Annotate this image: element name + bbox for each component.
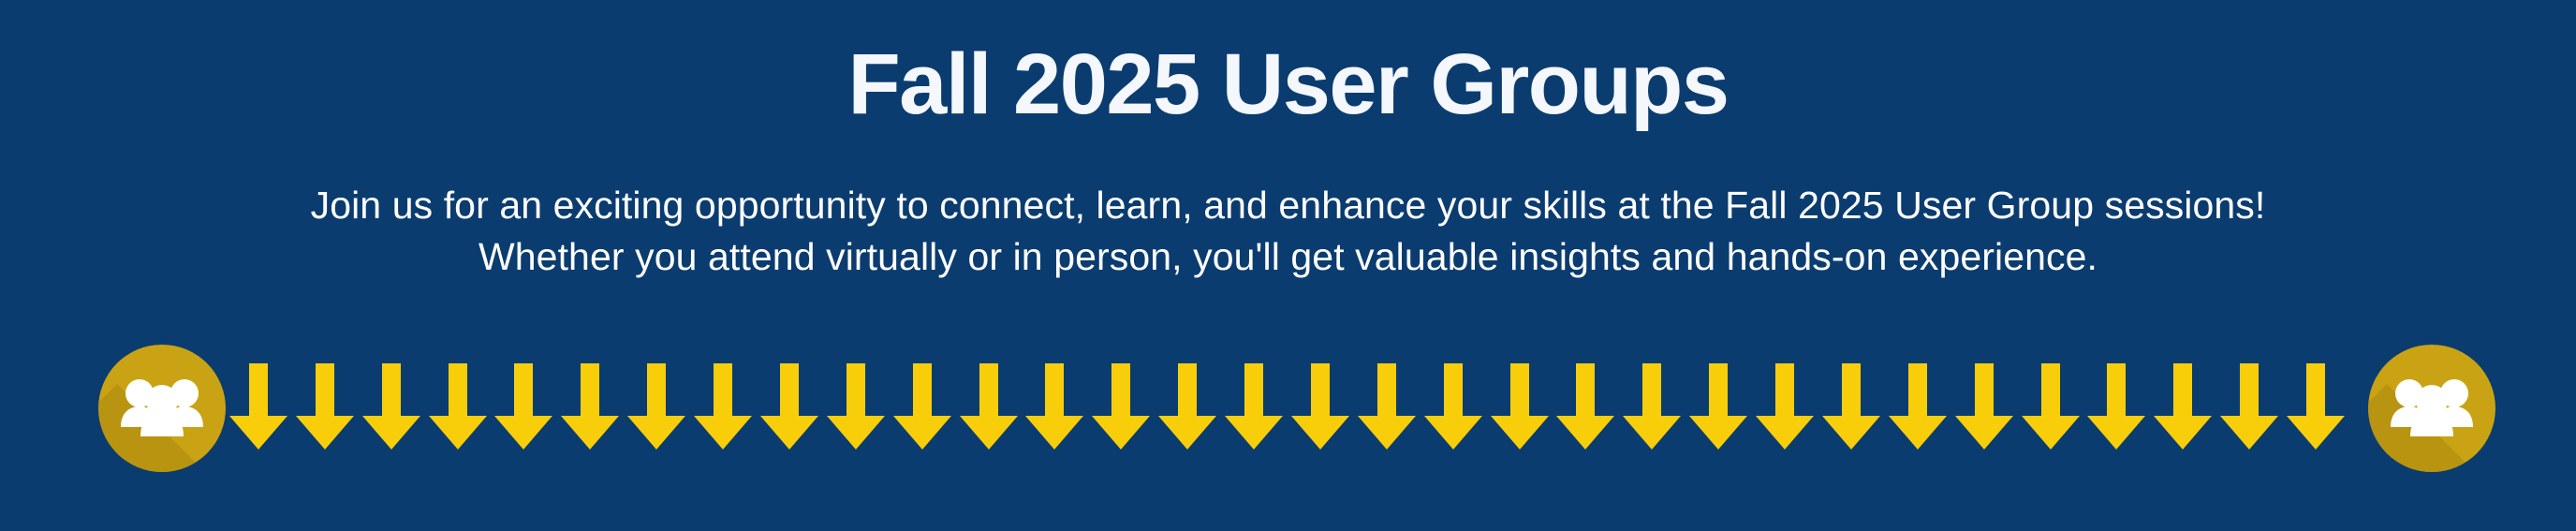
down-arrow-icon (1092, 363, 1150, 450)
people-group-badge-left (98, 345, 226, 472)
decorative-arrow-row (0, 345, 2576, 476)
page-title: Fall 2025 User Groups (0, 39, 2576, 130)
down-arrow-icon (1225, 363, 1283, 450)
down-arrow-icon (1556, 363, 1614, 450)
down-arrow-icon (893, 363, 951, 450)
down-arrow-icon (2220, 363, 2278, 450)
down-arrow-icon (1822, 363, 1880, 450)
down-arrow-icon (429, 363, 487, 450)
down-arrow-icon (2154, 363, 2212, 450)
people-group-icon (98, 345, 226, 472)
down-arrow-icon (827, 363, 885, 450)
down-arrow-icon (960, 363, 1018, 450)
down-arrow-icon (1689, 363, 1747, 450)
promo-banner: Fall 2025 User Groups Join us for an exc… (0, 0, 2576, 531)
down-arrow-icon (362, 363, 420, 450)
down-arrow-icon (760, 363, 818, 450)
subtitle-text: Join us for an exciting opportunity to c… (0, 180, 2576, 282)
down-arrow-icon (1358, 363, 1416, 450)
down-arrow-icon (1424, 363, 1482, 450)
down-arrow-icon (561, 363, 619, 450)
down-arrow-icon (1158, 363, 1216, 450)
down-arrow-icon (1025, 363, 1083, 450)
down-arrow-icon (1623, 363, 1681, 450)
down-arrow-icon (2087, 363, 2145, 450)
down-arrow-icon (296, 363, 354, 450)
down-arrow-icon (627, 363, 685, 450)
people-group-badge-right (2368, 345, 2495, 472)
down-arrow-icon (694, 363, 752, 450)
down-arrow-icon (1756, 363, 1814, 450)
down-arrow-icon (494, 363, 552, 450)
down-arrow-icon (1491, 363, 1549, 450)
subtitle-line-2: Whether you attend virtually or in perso… (0, 231, 2576, 283)
down-arrow-icon (2287, 363, 2345, 450)
down-arrow-icon (1291, 363, 1349, 450)
down-arrow-icon (229, 363, 287, 450)
down-arrow-icon (1889, 363, 1947, 450)
down-arrow-icon (2022, 363, 2080, 450)
down-arrow-icon (1955, 363, 2013, 450)
people-group-icon (2368, 345, 2495, 472)
subtitle-line-1: Join us for an exciting opportunity to c… (0, 180, 2576, 231)
